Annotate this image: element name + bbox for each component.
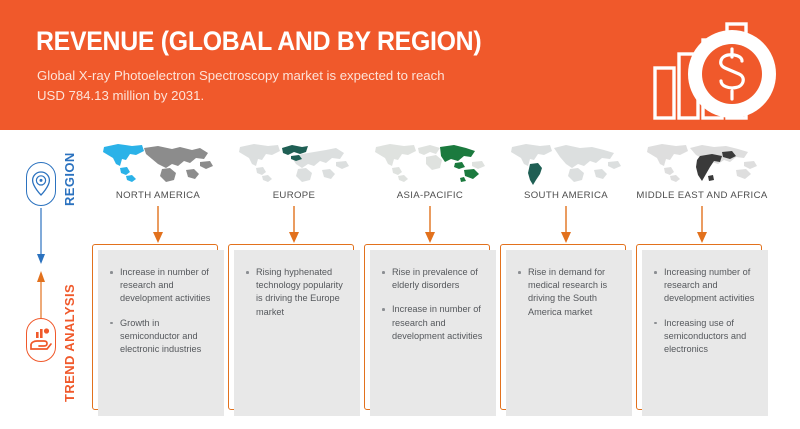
header-banner: REVENUE (GLOBAL AND BY REGION) Global X-… — [0, 0, 800, 130]
region-label: EUROPE — [224, 190, 364, 201]
list-item: Rising hyphenated technology popularity … — [244, 266, 352, 319]
trend-box-body: Rising hyphenated technology popularity … — [234, 250, 360, 416]
list-item: Increase in number of research and devel… — [380, 303, 488, 343]
region-column-asia-pacific: ASIA-PACIFIC Rise in prevalence of elder… — [360, 140, 500, 425]
list-item: Rise in demand for medical research is d… — [516, 266, 624, 319]
world-map-south-america-icon — [508, 142, 624, 188]
trend-box: Increasing number of research and develo… — [636, 244, 768, 416]
region-column-north-america: NORTH AMERICA Increase in number of rese… — [88, 140, 228, 425]
arrow-down-icon — [695, 206, 709, 244]
list-item: Rise in prevalence of elderly disorders — [380, 266, 488, 292]
arrow-down-icon — [559, 206, 573, 244]
world-map-europe-icon — [236, 142, 352, 188]
world-map-middle-east-africa-icon — [644, 142, 760, 188]
list-item: Growth in semiconductor and electronic i… — [108, 317, 216, 357]
region-label: SOUTH AMERICA — [496, 190, 636, 201]
dollar-bar-chart-icon — [652, 12, 782, 124]
trend-box-body: Rise in demand for medical research is d… — [506, 250, 632, 416]
trend-box-body: Increase in number of research and devel… — [98, 250, 224, 416]
list-item: Increase in number of research and devel… — [108, 266, 216, 306]
rail-label-trend: TREND ANALYSIS — [62, 284, 77, 402]
trend-box: Rise in prevalence of elderly disorders … — [364, 244, 496, 416]
trend-list: Rising hyphenated technology popularity … — [244, 266, 352, 319]
world-map-asia-pacific-icon — [372, 142, 488, 188]
trend-list: Increase in number of research and devel… — [108, 266, 216, 356]
region-label: NORTH AMERICA — [88, 190, 228, 201]
region-column-middle-east-africa: MIDDLE EAST AND AFRICA Increasing number… — [632, 140, 772, 425]
trend-list: Rise in demand for medical research is d… — [516, 266, 624, 319]
trend-list: Rise in prevalence of elderly disorders … — [380, 266, 488, 343]
trend-box: Rising hyphenated technology popularity … — [228, 244, 360, 416]
page-subtitle: Global X-ray Photoelectron Spectroscopy … — [37, 66, 457, 106]
rail-label-region: REGION — [62, 152, 77, 206]
world-map-north-america-icon — [100, 142, 216, 188]
trend-box: Increase in number of research and devel… — [92, 244, 224, 416]
trend-box-body: Increasing number of research and develo… — [642, 250, 768, 416]
region-column-south-america: SOUTH AMERICA Rise in demand for medical… — [496, 140, 636, 425]
region-column-europe: EUROPE Rising hyphenated technology popu… — [224, 140, 364, 425]
arrow-down-icon — [287, 206, 301, 244]
list-item: Increasing use of semiconductors and ele… — [652, 317, 760, 357]
location-pin-icon — [27, 163, 55, 205]
trend-list: Increasing number of research and develo… — [652, 266, 760, 356]
trend-box-body: Rise in prevalence of elderly disorders … — [370, 250, 496, 416]
region-label: MIDDLE EAST AND AFRICA — [632, 190, 772, 201]
infographic-page: REVENUE (GLOBAL AND BY REGION) Global X-… — [0, 0, 800, 429]
left-rail: REGION TREND ANALYSIS — [18, 140, 88, 425]
trend-badge — [26, 318, 56, 362]
trend-box: Rise in demand for medical research is d… — [500, 244, 632, 416]
page-title: REVENUE (GLOBAL AND BY REGION) — [36, 26, 481, 57]
hand-growth-icon — [27, 319, 55, 361]
region-badge — [26, 162, 56, 206]
region-columns: NORTH AMERICA Increase in number of rese… — [88, 140, 788, 425]
arrow-down-icon — [151, 206, 165, 244]
region-label: ASIA-PACIFIC — [360, 190, 500, 201]
list-item: Increasing number of research and develo… — [652, 266, 760, 306]
arrow-down-icon — [423, 206, 437, 244]
